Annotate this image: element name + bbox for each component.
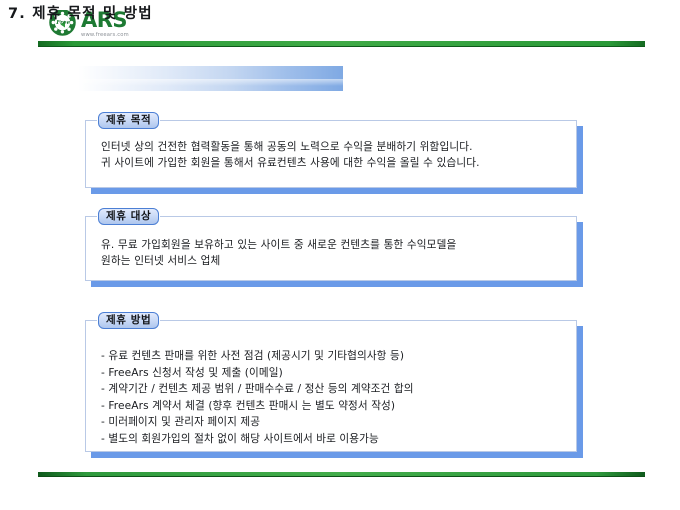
- list-item: - FreeArs 계약서 체결 (향후 컨텐츠 판매시 는 별도 약정서 작성…: [101, 398, 571, 415]
- header-green-rule-hairline: [38, 46, 645, 47]
- ars-logo-url: www.freears.com: [81, 33, 129, 38]
- list-item: - FreeArs 신청서 작성 및 제출 (이메일): [101, 365, 571, 382]
- content-box-body-method: - 유료 컨텐츠 판매를 위한 사전 점검 (제공시기 및 기타협의사항 등) …: [101, 348, 571, 448]
- footer-green-rule-hairline: [38, 476, 645, 477]
- content-box-badge-method: 제휴 방법: [98, 312, 159, 329]
- slide-canvas: Free ARS www.freears.com 7. 제휴 목적 및 방법 제…: [0, 0, 680, 510]
- content-box-body-purpose: 인터넷 상의 건전한 협력활동을 통해 공동의 노력으로 수익을 분배하기 위함…: [101, 140, 571, 171]
- content-box-badge-purpose: 제휴 목적: [98, 112, 159, 129]
- content-box-badge-target: 제휴 대상: [98, 208, 159, 225]
- page-title: 7. 제휴 목적 및 방법: [8, 2, 153, 23]
- list-item: - 유료 컨텐츠 판매를 위한 사전 점검 (제공시기 및 기타협의사항 등): [101, 348, 571, 365]
- list-item: - 별도의 회원가입의 절차 없이 해당 사이트에서 바로 이용가능: [101, 431, 571, 448]
- list-item: - 미러페이지 및 관리자 페이지 제공: [101, 414, 571, 431]
- content-box-body-target: 유. 무료 가입회원을 보유하고 있는 사이트 중 새로운 컨텐츠를 통한 수익…: [101, 238, 571, 269]
- list-item: - 계약기간 / 컨텐츠 제공 범위 / 판매수수료 / 정산 등의 계약조건 …: [101, 381, 571, 398]
- slide-title-bar: [78, 66, 343, 91]
